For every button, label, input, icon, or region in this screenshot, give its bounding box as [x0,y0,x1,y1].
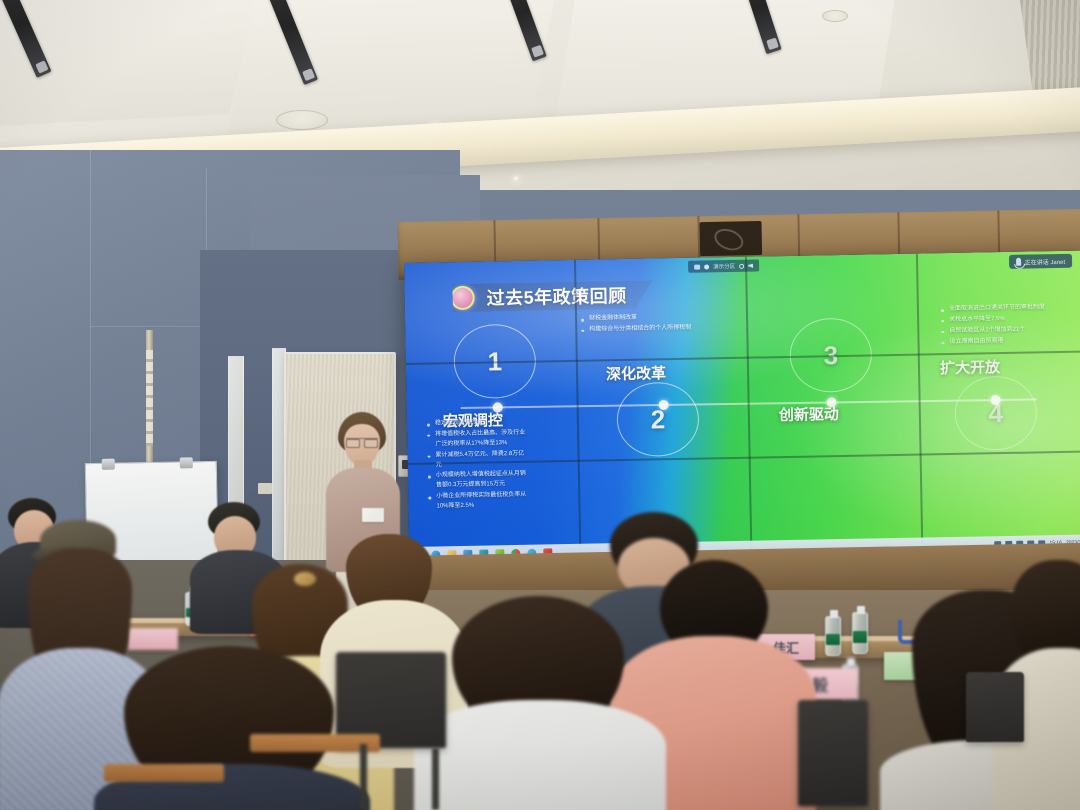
conference-room-photo: 1 2 3 4 宏观调控 深化改革 创新驱动 扩大开放 过去5年政策回顾 [0,0,1080,810]
ceiling-speaker [276,110,328,130]
ceiling-speaker [822,10,848,22]
attendee-torso [414,700,666,810]
ceiling-spotlight [513,176,520,182]
glasses-icon [346,438,378,445]
water-bottle [852,612,868,654]
volume-icon [748,263,753,268]
water-bottle [825,616,841,656]
now-speaking-label: 正在讲话 Janet [1025,256,1066,266]
screen-glare [404,251,1080,563]
led-video-wall[interactable]: 1 2 3 4 宏观调控 深化改革 创新驱动 扩大开放 过去5年政策回顾 [404,251,1080,563]
hair-clip [294,572,316,586]
presentation-slide: 1 2 3 4 宏观调控 深化改革 创新驱动 扩大开放 过去5年政策回顾 [404,251,1080,563]
record-icon [704,264,709,269]
wall-outlet [258,483,272,494]
microphone-icon [1016,258,1021,266]
now-speaking-badge: 正在讲话 Janet [1009,254,1073,269]
chair [966,672,1024,742]
easel-post [146,330,153,470]
presenter-name-badge [362,508,384,522]
status-bar-label: 演示分区 [713,262,735,270]
info-icon [739,263,744,268]
chair-seat [104,764,224,782]
chair [798,700,868,806]
attendee [124,646,334,810]
presentation-status-bar: 演示分区 [688,259,759,272]
signal-icon [694,264,700,269]
soffit-cable-opening [700,221,763,256]
attendee [430,596,646,810]
